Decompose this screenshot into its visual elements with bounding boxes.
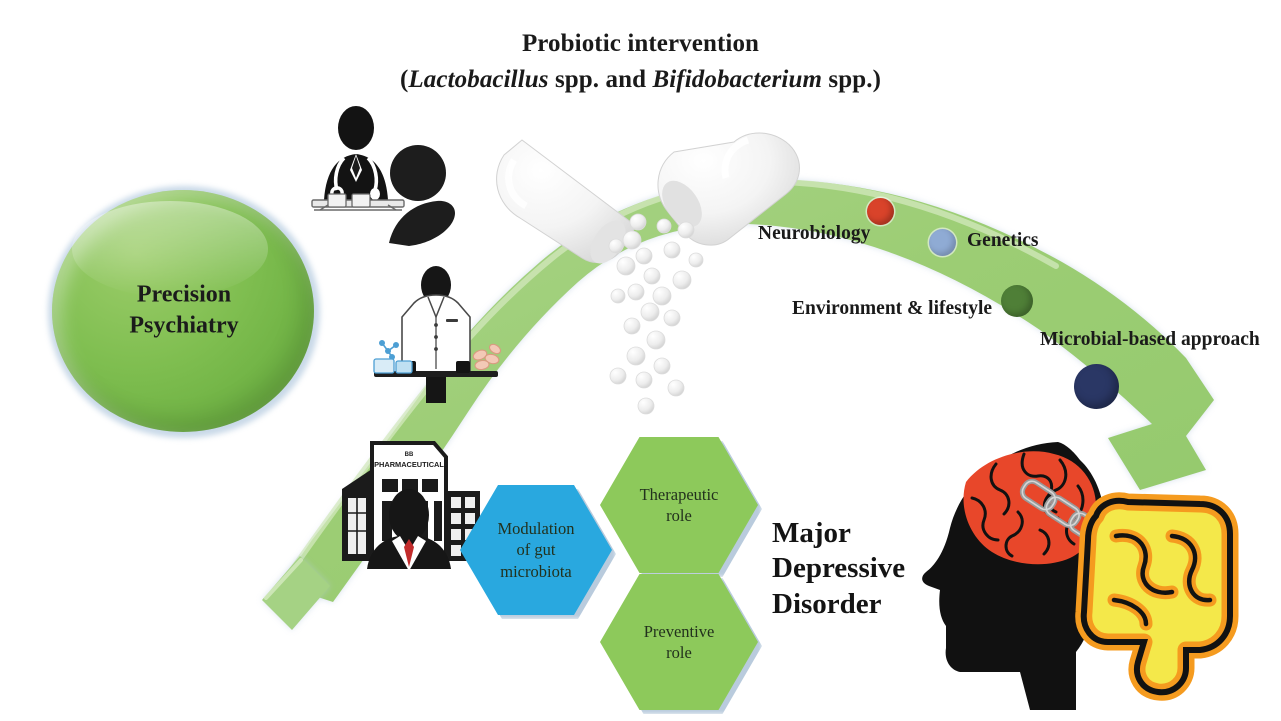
- precision-psychiatry-label: Precision Psychiatry: [48, 280, 320, 342]
- precision-psychiatry-circle: Precision Psychiatry: [48, 186, 320, 438]
- figure-title-line2: (Lactobacillus spp. and Bifidobacterium …: [0, 62, 1281, 98]
- genus-bifidobacterium: Bifidobacterium: [652, 66, 822, 93]
- hex-modulation-line3: microbiota: [498, 561, 575, 582]
- open-capsule-with-granules-icon: [486, 100, 816, 430]
- intestine-icon: [1084, 501, 1230, 692]
- patient-silhouette-icon: [385, 143, 457, 248]
- hex-modulation-text: Modulation of gut microbiota: [498, 518, 575, 582]
- hex-preventive-text: Preventive role: [644, 621, 715, 664]
- environment-lifestyle-dot: [1001, 285, 1033, 317]
- hex-preventive-line1: Preventive: [644, 621, 715, 642]
- neurobiology-dot: [867, 198, 894, 225]
- hex-therapeutic-line2: role: [640, 505, 719, 526]
- genetics-dot: [929, 229, 956, 256]
- precision-line2: Psychiatry: [48, 311, 320, 342]
- pharma-sign-small: BB: [405, 452, 414, 458]
- microbial-based-approach-label: Microbial-based approach: [1040, 329, 1260, 351]
- genus-lactobacillus: Lactobacillus: [408, 66, 548, 93]
- pharmaceutical-company-building-icon: BB PHARMACEUTICAL: [334, 435, 484, 575]
- hex-preventive-line2: role: [644, 642, 715, 663]
- precision-line1: Precision: [48, 280, 320, 311]
- gut-brain-axis-illustration: [900, 420, 1280, 721]
- mdd-line3: Disorder: [772, 587, 905, 622]
- neurobiology-label: Neurobiology: [758, 223, 870, 245]
- genetics-label: Genetics: [967, 230, 1038, 252]
- major-depressive-disorder-label: Major Depressive Disorder: [772, 516, 905, 622]
- mdd-line1: Major: [772, 516, 905, 551]
- granules: [609, 214, 703, 414]
- pharma-sign-main: PHARMACEUTICAL: [374, 460, 444, 469]
- hex-modulation-line1: Modulation: [498, 518, 575, 539]
- hex-modulation-line2: of gut: [498, 539, 575, 560]
- hex-therapeutic-text: Therapeutic role: [640, 484, 719, 527]
- figure-title-line1: Probiotic intervention: [0, 26, 1281, 62]
- figure-title: Probiotic intervention (Lactobacillus sp…: [0, 26, 1281, 97]
- figure-canvas: Probiotic intervention (Lactobacillus sp…: [0, 0, 1281, 721]
- mdd-line2: Depressive: [772, 551, 905, 586]
- environment-lifestyle-label: Environment & lifestyle: [792, 298, 992, 320]
- microbial-based-approach-dot: [1074, 364, 1119, 409]
- hex-therapeutic-line1: Therapeutic: [640, 484, 719, 505]
